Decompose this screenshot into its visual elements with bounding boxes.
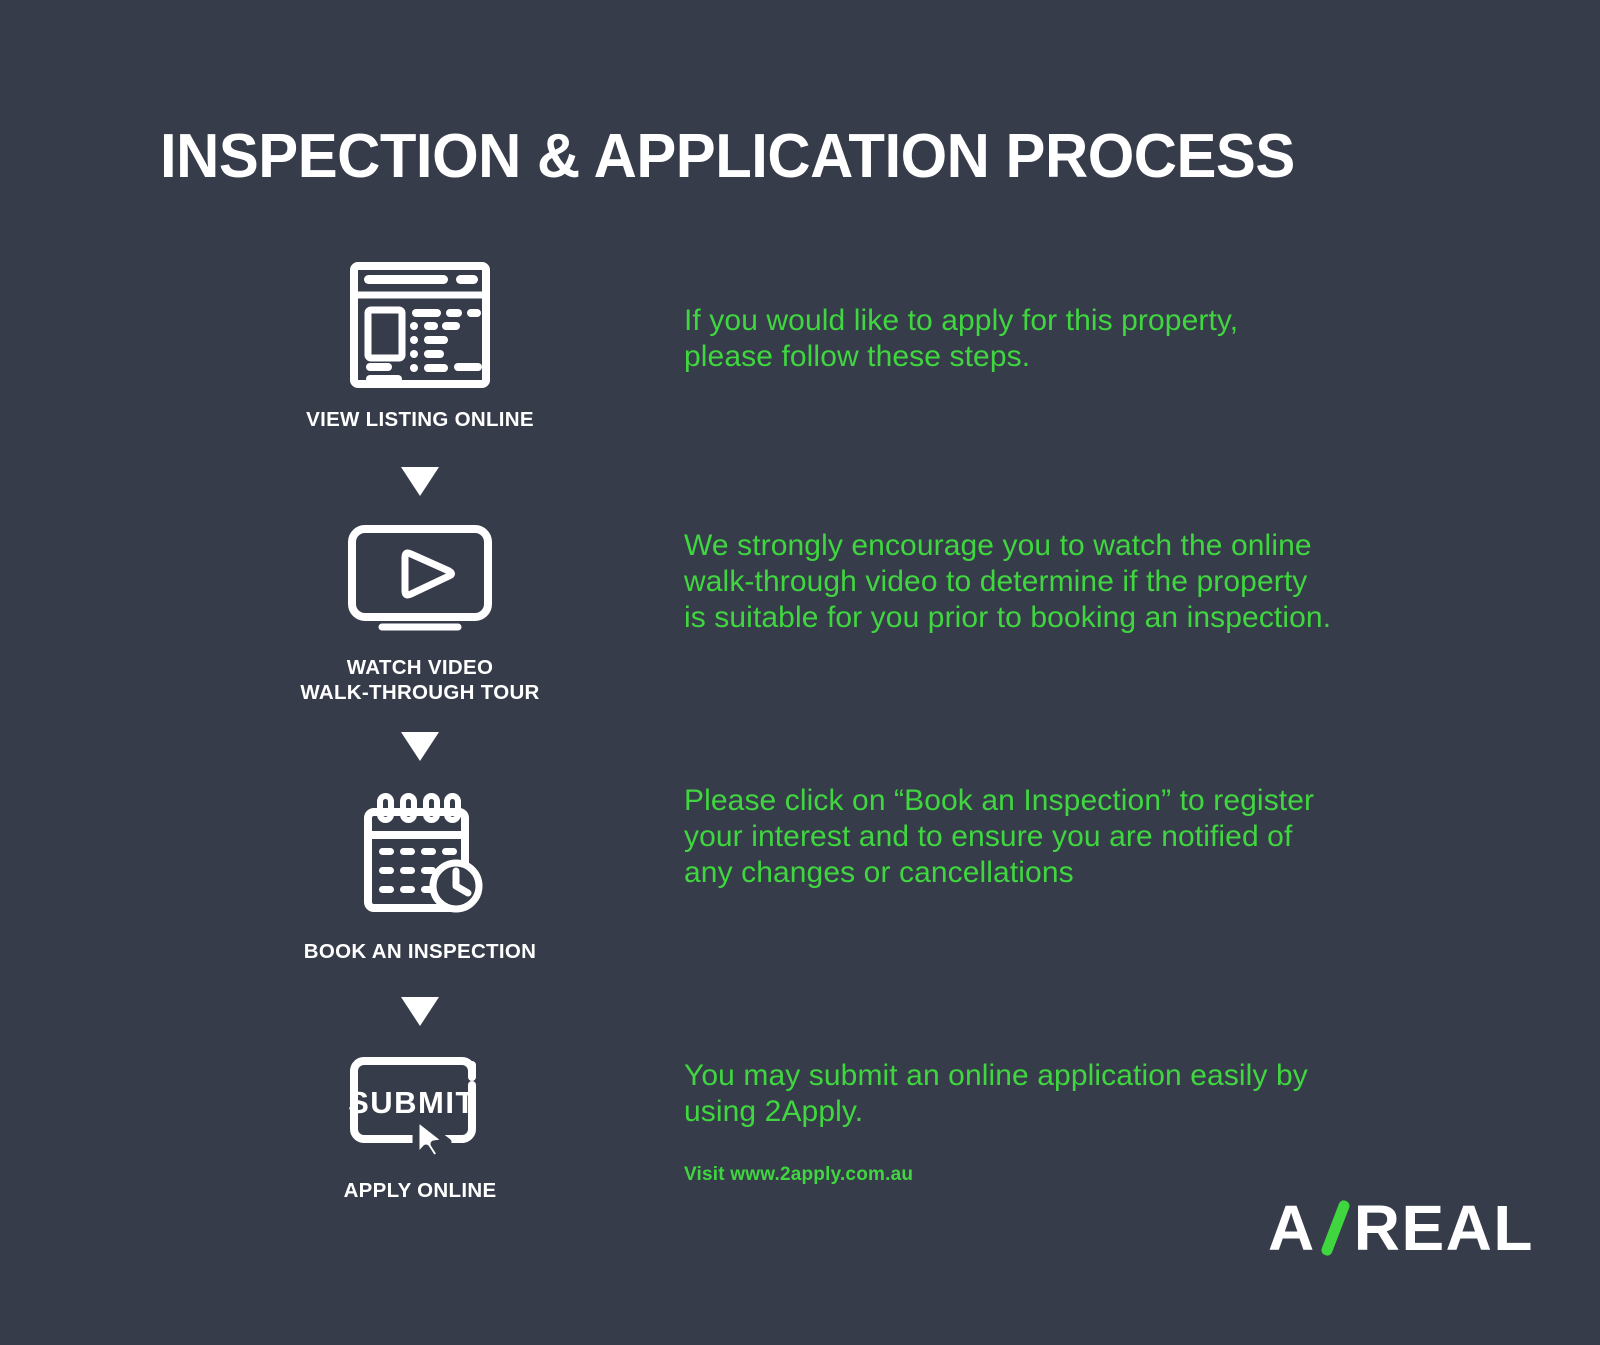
step-label: WATCH VIDEO WALK-THROUGH TOUR xyxy=(270,655,570,705)
svg-text:SUBMIT: SUBMIT xyxy=(348,1085,476,1120)
logo-letter-a: A xyxy=(1268,1196,1316,1260)
step-watch-video[interactable]: WATCH VIDEO WALK-THROUGH TOUR xyxy=(270,524,570,705)
visit-link[interactable]: Visit www.2apply.com.au xyxy=(684,1163,913,1187)
logo-word-real: REAL xyxy=(1354,1196,1534,1260)
submit-button-cursor-icon: SUBMIT xyxy=(270,1055,570,1164)
step-label: BOOK AN INSPECTION xyxy=(270,939,570,964)
areal-logo[interactable]: A REAL xyxy=(1268,1196,1534,1260)
browser-listing-icon xyxy=(270,262,570,393)
paragraph-inspection: Please click on “Book an Inspection” to … xyxy=(684,783,1314,891)
step-apply-online[interactable]: SUBMIT APPLY ONLINE xyxy=(270,1055,570,1203)
logo-slash-icon xyxy=(1318,1197,1352,1259)
arrow-down-icon-2 xyxy=(270,732,570,761)
paragraph-video: We strongly encourage you to watch the o… xyxy=(684,528,1331,636)
arrow-down-icon-1 xyxy=(270,467,570,496)
video-play-monitor-icon xyxy=(270,524,570,641)
paragraph-intro: If you would like to apply for this prop… xyxy=(684,303,1238,375)
arrow-down-icon-3 xyxy=(270,997,570,1026)
page-title: INSPECTION & APPLICATION PROCESS xyxy=(160,118,1295,196)
infographic-page: INSPECTION & APPLICATION PROCESS xyxy=(0,0,1600,1345)
step-book-inspection[interactable]: BOOK AN INSPECTION xyxy=(270,790,570,964)
step-label: VIEW LISTING ONLINE xyxy=(270,407,570,432)
paragraph-apply: You may submit an online application eas… xyxy=(684,1058,1308,1130)
step-label: APPLY ONLINE xyxy=(270,1178,570,1203)
calendar-clock-icon xyxy=(270,790,570,925)
step-view-listing-online[interactable]: VIEW LISTING ONLINE xyxy=(270,262,570,432)
